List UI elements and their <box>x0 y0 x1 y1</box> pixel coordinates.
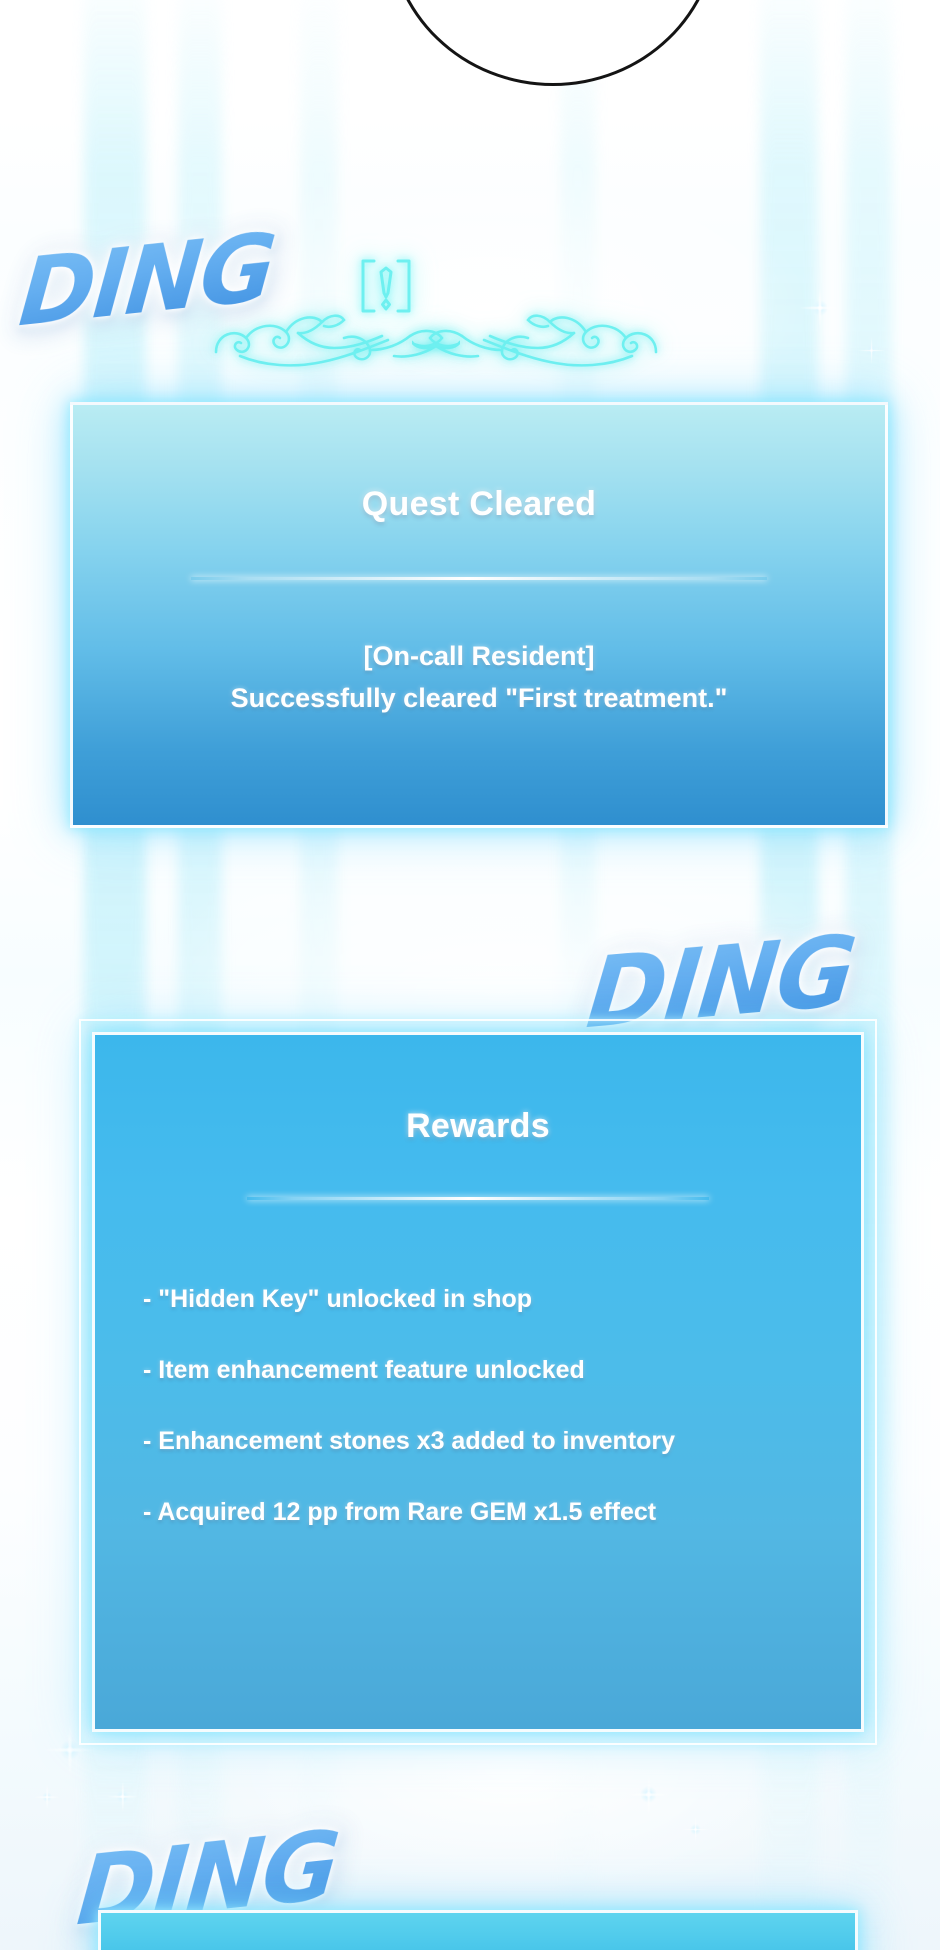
sound-effect-ding-1: DING <box>15 213 278 348</box>
rewards-panel-title: Rewards <box>95 1107 861 1146</box>
sparkle-icon <box>812 300 828 316</box>
list-item: - Item enhancement feature unlocked <box>143 1356 675 1385</box>
quest-panel-title: Quest Cleared <box>73 485 885 524</box>
sparkle-icon <box>116 1790 129 1803</box>
sparkle-icon <box>866 345 877 356</box>
sparkle-icon <box>42 1792 52 1802</box>
sparkle-icon <box>60 1740 80 1760</box>
ornament-flourish-right <box>412 300 662 370</box>
quest-body-line-1: [On-call Resident] <box>73 635 885 677</box>
speech-bubble-circle <box>388 0 718 86</box>
quest-body-line-2: Successfully cleared "First treatment." <box>73 677 885 719</box>
sparkle-icon <box>640 1786 657 1803</box>
alert-bracket-icon <box>354 255 418 317</box>
rewards-list: - "Hidden Key" unlocked in shop - Item e… <box>143 1285 675 1527</box>
sound-effect-ding-2: DING <box>582 914 859 1051</box>
quest-panel-divider <box>191 577 767 580</box>
comic-page: DING <box>0 0 940 1950</box>
list-item: - Enhancement stones x3 added to invento… <box>143 1427 675 1456</box>
list-item: - Acquired 12 pp from Rare GEM x1.5 effe… <box>143 1498 675 1527</box>
list-item: - "Hidden Key" unlocked in shop <box>143 1285 675 1314</box>
quest-cleared-panel: Quest Cleared [On-call Resident] Success… <box>70 402 888 828</box>
rewards-panel: Rewards - "Hidden Key" unlocked in shop … <box>92 1032 864 1732</box>
sparkle-icon <box>690 1824 701 1835</box>
quest-panel-body: [On-call Resident] Successfully cleared … <box>73 635 885 719</box>
next-system-panel <box>98 1910 858 1950</box>
rewards-panel-divider <box>247 1197 709 1200</box>
